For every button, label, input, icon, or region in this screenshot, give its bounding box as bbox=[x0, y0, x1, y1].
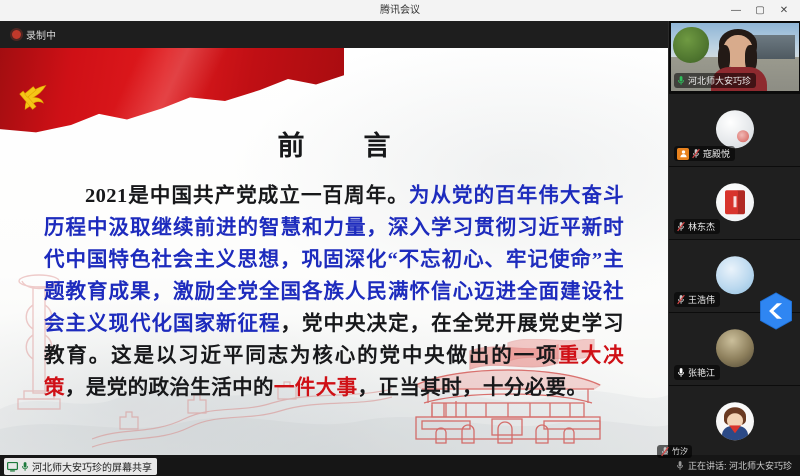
speaking-indicator: 竹汐 正在讲话: 河北师大安巧珍 bbox=[676, 459, 792, 472]
participant-name: 王浩伟 bbox=[688, 293, 715, 306]
participant-name-chip: 河北师大安巧珍 bbox=[674, 73, 756, 88]
slide-body-text: 2021是中国共产党成立一百周年。为从党的百年伟大奋斗历程中汲取继续前进的智慧和… bbox=[44, 180, 624, 404]
hammer-and-sickle-icon bbox=[16, 78, 58, 118]
host-badge bbox=[677, 148, 689, 160]
slide-run-7: ，正当其时，十分必要。 bbox=[358, 377, 588, 399]
avatar bbox=[716, 256, 754, 294]
avatar-book-icon bbox=[725, 190, 745, 214]
participant-name: 林东杰 bbox=[688, 220, 715, 233]
share-mic-icon bbox=[21, 461, 29, 472]
avatar bbox=[716, 402, 754, 440]
tencent-meeting-window: 腾讯会议 — ▢ ✕ 录制中 bbox=[0, 0, 800, 476]
maximize-button[interactable]: ▢ bbox=[748, 0, 772, 21]
minimize-button[interactable]: — bbox=[724, 0, 748, 21]
participant-name-chip: 寇殿悦 bbox=[674, 146, 735, 161]
screen-share-icon bbox=[7, 462, 18, 472]
presentation-slide: 前 言 2021是中国共产党成立一百周年。为从党的百年伟大奋斗历程中汲取继续前进… bbox=[0, 48, 668, 455]
mini-speaker-name: 竹汐 bbox=[672, 446, 688, 457]
mic-on-icon bbox=[677, 367, 685, 378]
close-button[interactable]: ✕ bbox=[772, 0, 796, 21]
participant-name-chip: 林东杰 bbox=[674, 219, 720, 234]
screen-share-label: 河北师大安巧珍的屏幕共享 bbox=[32, 459, 152, 474]
participant-tile[interactable]: 河北师大安巧珍 bbox=[669, 21, 800, 94]
shared-screen-stage[interactable]: 录制中 bbox=[0, 21, 668, 455]
speaking-mic-icon bbox=[676, 460, 684, 471]
mic-off-icon bbox=[692, 148, 700, 159]
host-person-icon bbox=[679, 149, 688, 158]
participant-name: 河北师大安巧珍 bbox=[688, 74, 751, 87]
mini-speaker-chip: 竹汐 bbox=[657, 445, 692, 458]
slide-run-5: ，是党的政治生活中的 bbox=[65, 377, 274, 399]
title-bar: 腾讯会议 — ▢ ✕ bbox=[0, 0, 800, 22]
avatar-detail bbox=[737, 130, 749, 142]
recording-label: 录制中 bbox=[26, 27, 56, 42]
mic-on-icon bbox=[677, 75, 685, 86]
participant-name-chip: 王浩伟 bbox=[674, 292, 720, 307]
app-hexagon-icon[interactable] bbox=[758, 292, 794, 330]
participant-rail[interactable]: 河北师大安巧珍 寇殿悦 bbox=[668, 21, 800, 455]
speaking-label: 正在讲话: 河北师大安巧珍 bbox=[688, 459, 792, 472]
recording-dot-icon bbox=[12, 30, 21, 39]
participant-name: 张艳江 bbox=[688, 366, 715, 379]
participant-tile[interactable]: 林东杰 bbox=[669, 167, 800, 240]
mini-mic-off-icon bbox=[661, 446, 669, 457]
slide-title: 前 言 bbox=[0, 124, 668, 163]
slide-run-6: 一件大事 bbox=[274, 377, 358, 399]
avatar-book-band bbox=[734, 196, 737, 207]
bottom-status-bar: 河北师大安巧珍的屏幕共享 竹汐 正在讲话: 河北师大安巧珍 bbox=[0, 455, 800, 476]
screen-share-notice[interactable]: 河北师大安巧珍的屏幕共享 bbox=[4, 458, 157, 475]
mic-off-icon bbox=[677, 294, 685, 305]
recording-indicator: 录制中 bbox=[12, 27, 56, 42]
window-controls: — ▢ ✕ bbox=[724, 0, 796, 21]
slide-run-1: 是中国共产党成立一百周年。 bbox=[128, 185, 409, 207]
participant-tile[interactable]: 寇殿悦 bbox=[669, 94, 800, 167]
slide-run-0: 2021 bbox=[85, 185, 128, 207]
recording-bar: 录制中 bbox=[0, 21, 668, 48]
participant-name-chip: 张艳江 bbox=[674, 365, 720, 380]
party-flag-decoration bbox=[0, 48, 344, 136]
mic-off-icon bbox=[677, 221, 685, 232]
avatar bbox=[716, 329, 754, 367]
participant-name: 寇殿悦 bbox=[703, 147, 730, 160]
window-title: 腾讯会议 bbox=[0, 0, 800, 21]
avatar bbox=[716, 183, 754, 221]
avatar bbox=[716, 110, 754, 148]
